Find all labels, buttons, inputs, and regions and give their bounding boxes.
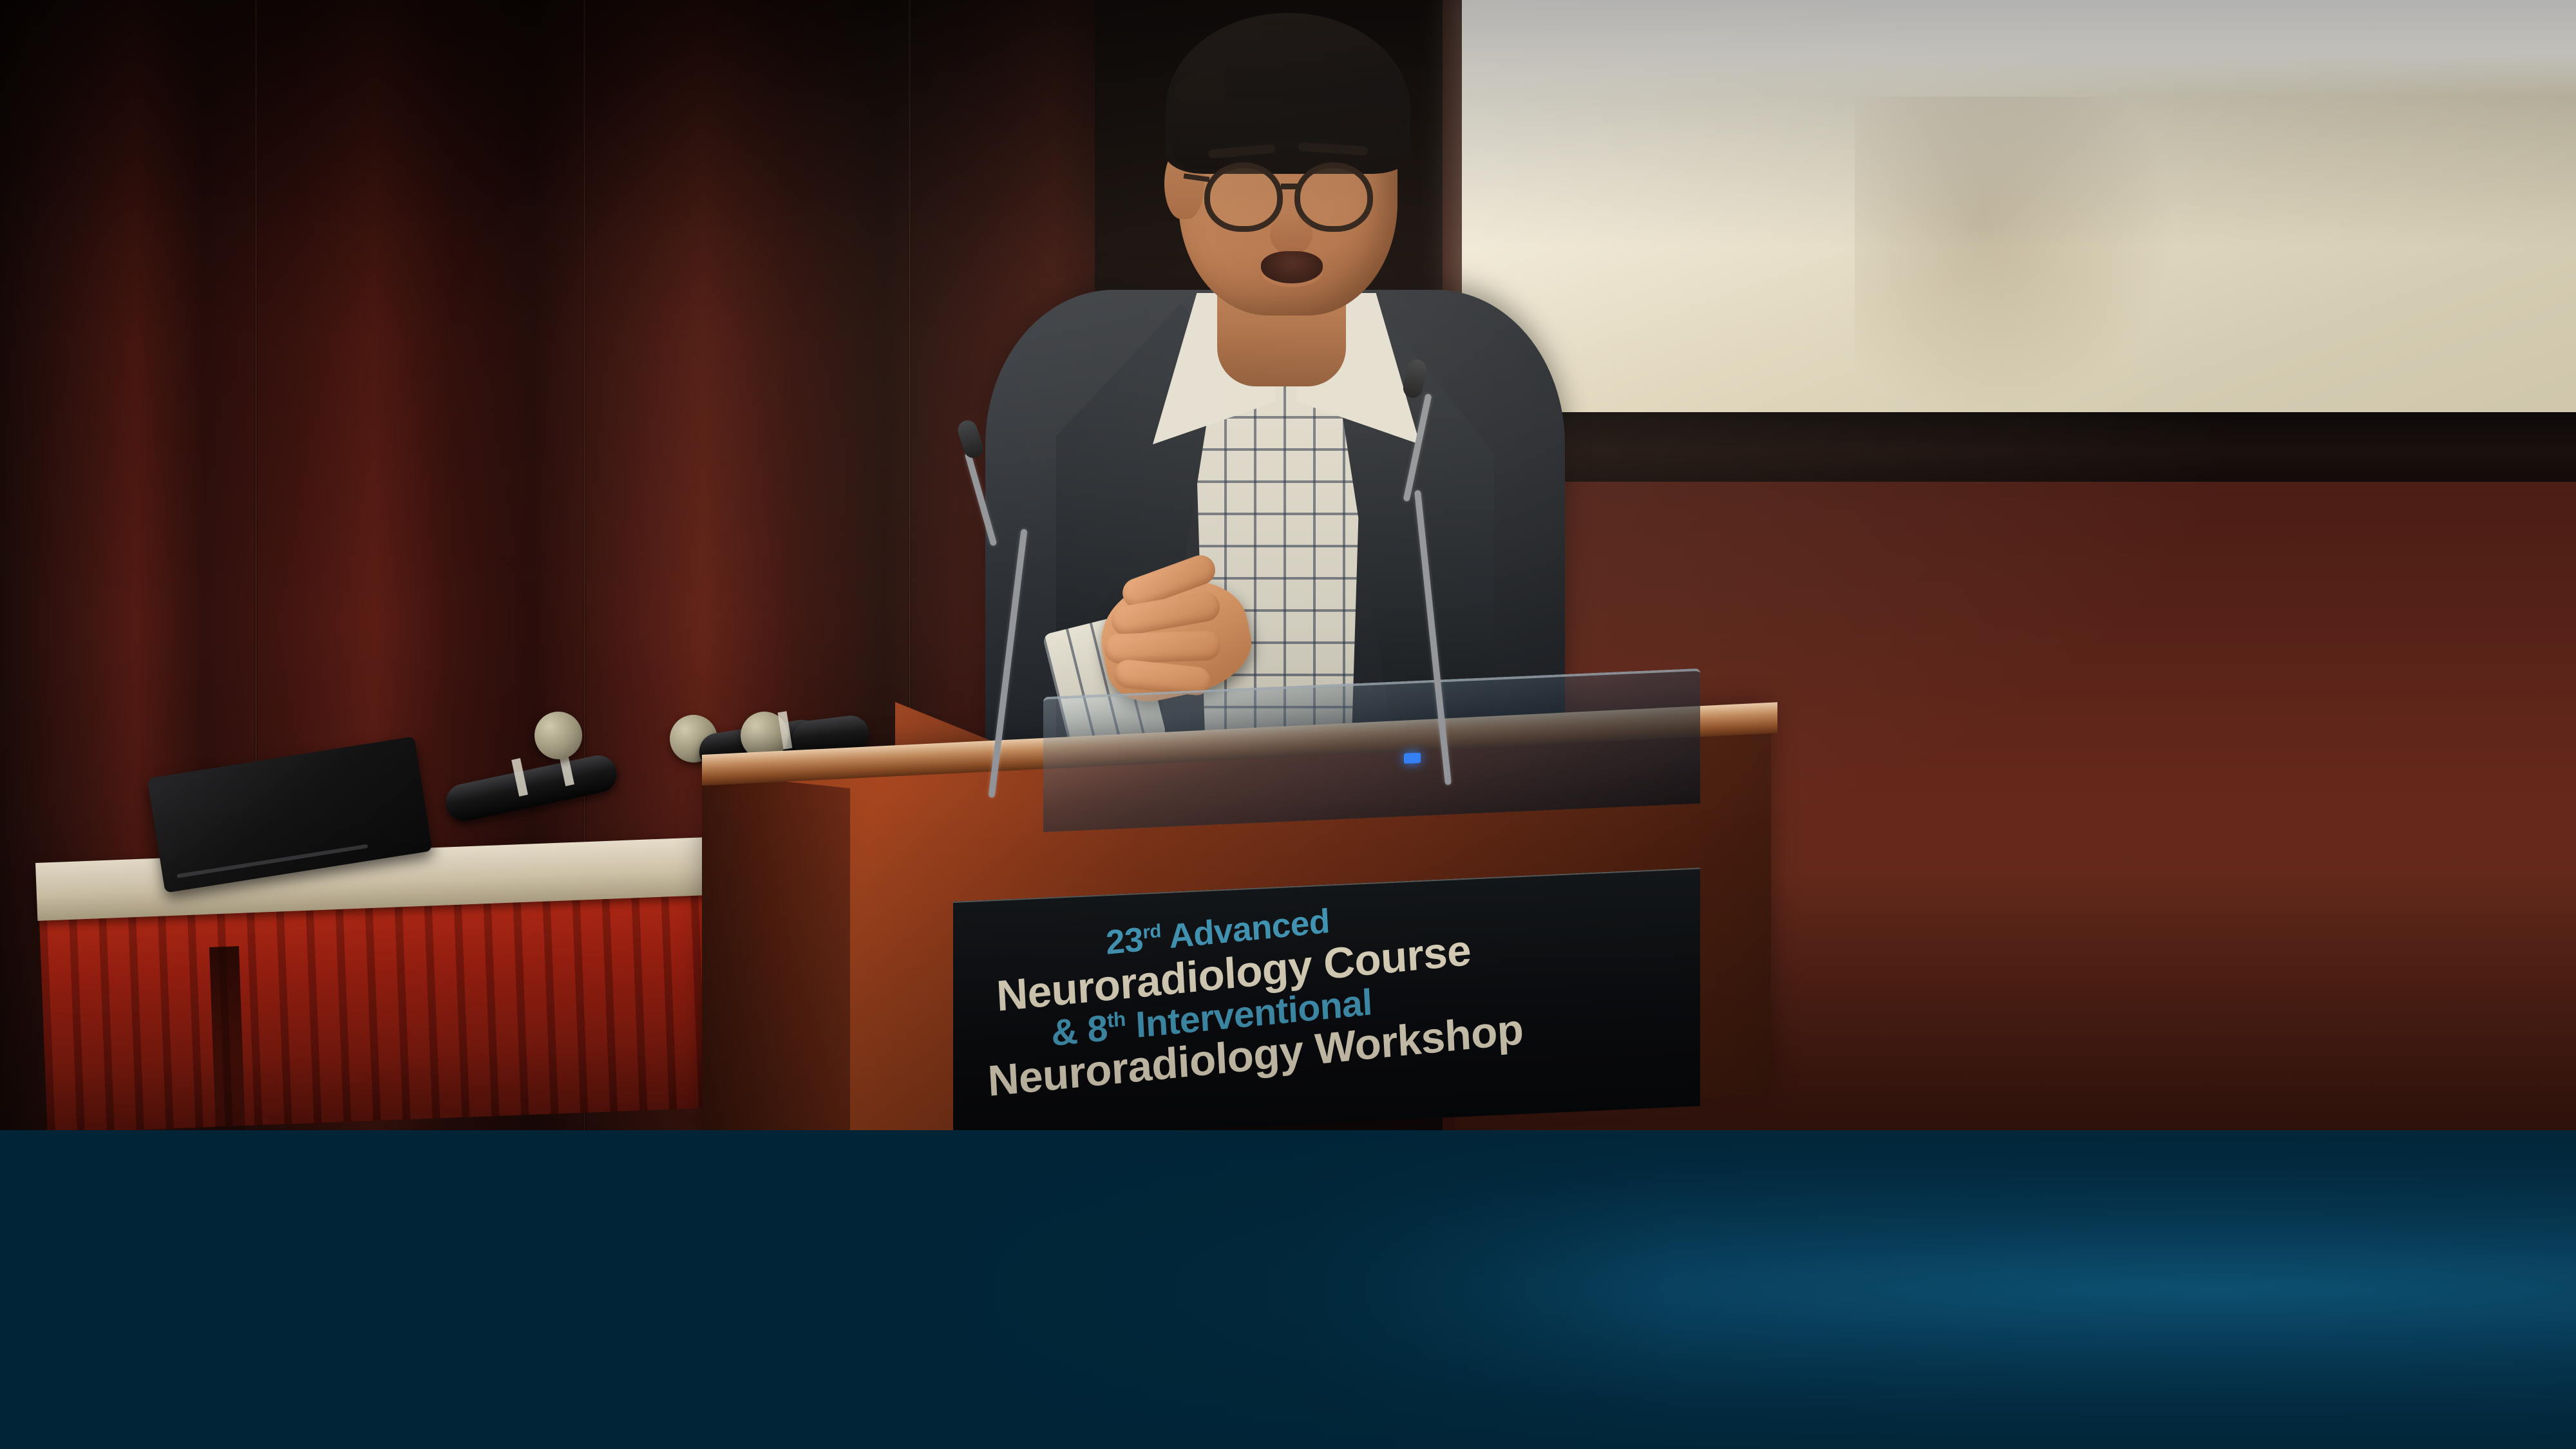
speaker-nose	[1270, 213, 1312, 255]
microphone-head	[535, 712, 582, 759]
event-banner: National Neuroscience Institute SingHeal…	[0, 1130, 2576, 1449]
eyeglasses-bridge	[1281, 184, 1298, 189]
speaker-hair	[1166, 13, 1410, 174]
hand-finger	[1104, 630, 1220, 664]
projection-screen-shadow	[1855, 97, 2177, 419]
podium-left-face	[702, 773, 850, 1130]
screenshot-root: 23rd Advanced Neuroradiology Course & 8t…	[0, 0, 2576, 1449]
podium-acrylic-top	[1043, 668, 1700, 833]
speaker-mouth	[1261, 251, 1323, 283]
banner-gradient-overlay	[0, 1130, 1674, 1449]
event-photo: 23rd Advanced Neuroradiology Course & 8t…	[0, 0, 2576, 1130]
eyeglasses-lens-left	[1204, 162, 1283, 232]
podium-sign: 23rd Advanced Neuroradiology Course & 8t…	[953, 867, 1700, 1130]
